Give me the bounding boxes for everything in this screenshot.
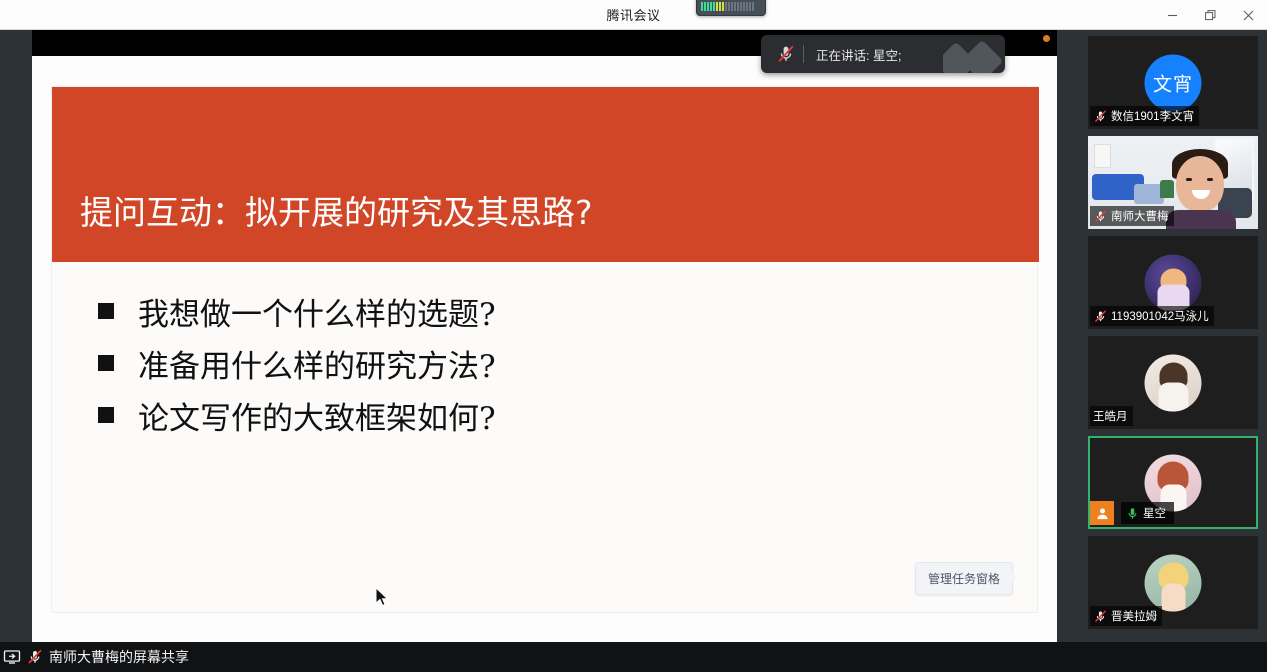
meter-segment xyxy=(719,2,721,11)
meter-segment xyxy=(725,2,727,11)
meter-segment xyxy=(749,2,751,11)
restore-button[interactable] xyxy=(1191,0,1229,30)
participant-name: 数信1901李文宵 xyxy=(1111,108,1194,124)
square-bullet-icon xyxy=(98,303,114,319)
meter-segment xyxy=(737,2,739,11)
participant-name: 南师大曹梅 xyxy=(1111,208,1169,224)
mouse-cursor xyxy=(376,588,390,608)
window-title: 腾讯会议 xyxy=(606,5,660,24)
slide-content: 提问互动：拟开展的研究及其思路? 我想做一个什么样的选题? 准备用什么样的研究方… xyxy=(51,86,1038,613)
participant-label: 晋美拉姆 xyxy=(1090,606,1162,626)
screen-share-icon xyxy=(3,648,21,666)
participant-tile[interactable]: 南师大曹梅 xyxy=(1088,136,1258,229)
meter-segment xyxy=(701,2,703,11)
slide-bullet-list: 我想做一个什么样的选题? 准备用什么样的研究方法? 论文写作的大致框架如何? xyxy=(98,292,978,448)
active-speaker-banner[interactable]: 正在讲话: 星空; xyxy=(761,35,1005,73)
mic-muted-icon xyxy=(1093,209,1108,224)
minimize-button[interactable] xyxy=(1153,0,1191,30)
screen-share-status-text: 南师大曹梅的屏幕共享 xyxy=(49,647,189,667)
meter-segment xyxy=(746,2,748,11)
bullet-text: 我想做一个什么样的选题? xyxy=(138,289,496,334)
meter-segment xyxy=(707,2,709,11)
meter-segment xyxy=(743,2,745,11)
banner-chevron-graphic xyxy=(943,35,1005,73)
avatar-initials: 文宵 xyxy=(1153,69,1193,96)
mic-muted-icon xyxy=(26,648,44,666)
status-bar: 南师大曹梅的屏幕共享 xyxy=(0,642,1267,672)
participant-label: 1193901042马泳儿 xyxy=(1090,306,1214,326)
close-button[interactable] xyxy=(1229,0,1267,30)
manage-task-pane-button[interactable]: 管理任务窗格 xyxy=(915,562,1013,595)
bullet-text: 准备用什么样的研究方法? xyxy=(138,341,496,386)
meter-segment xyxy=(740,2,742,11)
meter-segment xyxy=(710,2,712,11)
participant-label: 南师大曹梅 xyxy=(1090,206,1174,226)
speaking-status-text: 正在讲话: 星空; xyxy=(816,45,901,64)
participant-name: 星空 xyxy=(1143,505,1166,521)
mic-muted-icon xyxy=(1093,109,1108,124)
participant-tile[interactable]: 王皓月 xyxy=(1088,336,1258,429)
participant-tile[interactable]: 文宵 数信1901李文宵 xyxy=(1088,36,1258,129)
window-controls xyxy=(1153,0,1267,30)
participant-rail[interactable]: 文宵 数信1901李文宵 xyxy=(1080,30,1267,642)
participant-name: 1193901042马泳儿 xyxy=(1111,308,1209,324)
meter-segment xyxy=(713,2,715,11)
host-badge-icon xyxy=(1090,501,1114,525)
list-item: 准备用什么样的研究方法? xyxy=(98,344,978,382)
meter-segment xyxy=(722,2,724,11)
mic-muted-icon xyxy=(1093,609,1108,624)
meter-segment xyxy=(716,2,718,11)
mic-muted-icon xyxy=(1093,309,1108,324)
mic-status-chip: 星空 xyxy=(1121,502,1174,524)
shared-screen-area: 提问互动：拟开展的研究及其思路? 我想做一个什么样的选题? 准备用什么样的研究方… xyxy=(0,30,1080,642)
participant-label: 星空 xyxy=(1090,499,1179,527)
recording-indicator-dot xyxy=(1043,35,1050,42)
window-titlebar: 腾讯会议 xyxy=(0,0,1267,30)
meter-segment xyxy=(734,2,736,11)
meter-segment xyxy=(704,2,706,11)
participant-label: 数信1901李文宵 xyxy=(1090,106,1199,126)
mic-muted-icon xyxy=(775,43,797,65)
avatar xyxy=(1145,254,1202,311)
participant-tile-active-speaker[interactable]: 星空 xyxy=(1088,436,1258,529)
slide-title-band: 提问互动：拟开展的研究及其思路? xyxy=(52,87,1039,262)
meter-segment xyxy=(728,2,730,11)
participant-label: 王皓月 xyxy=(1090,406,1133,426)
banner-divider xyxy=(803,45,804,63)
avatar: 文宵 xyxy=(1145,54,1202,111)
audio-level-meter[interactable] xyxy=(696,0,766,16)
presentation-slide: 提问互动：拟开展的研究及其思路? 我想做一个什么样的选题? 准备用什么样的研究方… xyxy=(32,56,1057,642)
participant-name: 晋美拉姆 xyxy=(1111,608,1157,624)
slide-title: 提问互动：拟开展的研究及其思路? xyxy=(52,186,593,262)
participant-tile[interactable]: 晋美拉姆 xyxy=(1088,536,1258,629)
meter-segment xyxy=(752,2,754,11)
mic-active-icon xyxy=(1125,506,1140,521)
square-bullet-icon xyxy=(98,355,114,371)
avatar xyxy=(1145,354,1202,411)
list-item: 我想做一个什么样的选题? xyxy=(98,292,978,330)
square-bullet-icon xyxy=(98,407,114,423)
list-item: 论文写作的大致框架如何? xyxy=(98,396,978,434)
participant-tile[interactable]: 1193901042马泳儿 xyxy=(1088,236,1258,329)
bullet-text: 论文写作的大致框架如何? xyxy=(138,393,496,438)
participant-name: 王皓月 xyxy=(1093,408,1128,424)
meter-segment xyxy=(731,2,733,11)
avatar xyxy=(1145,554,1202,611)
